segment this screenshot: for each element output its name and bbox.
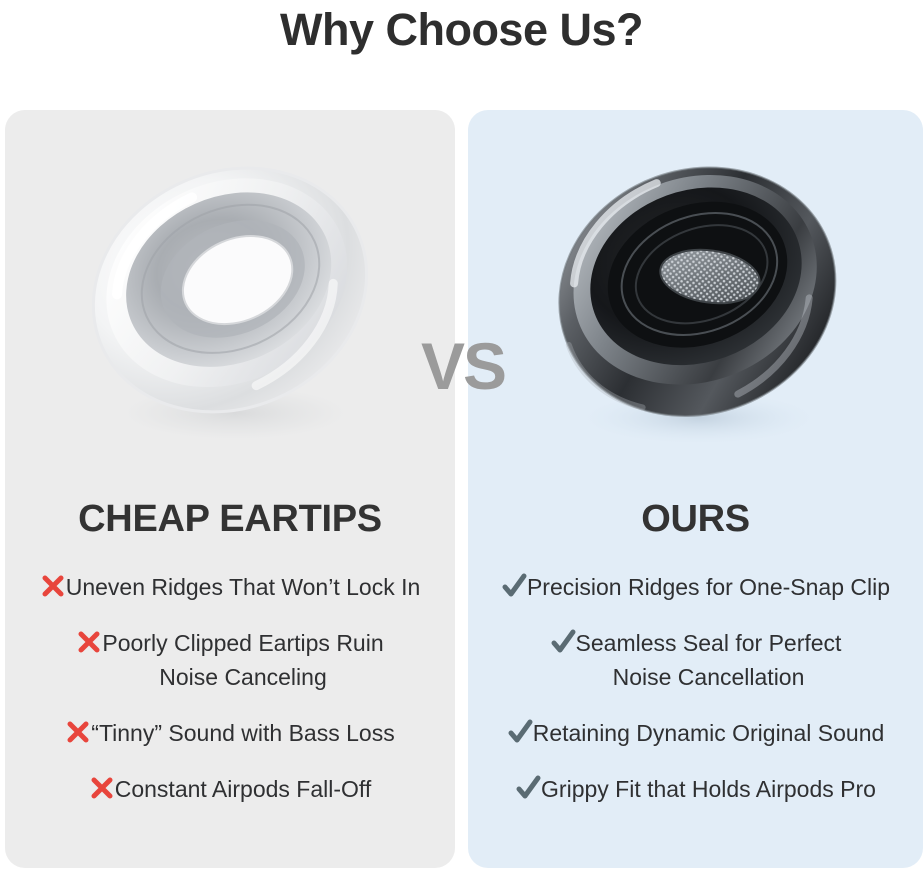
list-item: Precision Ridges for One-Snap Clip bbox=[478, 570, 913, 604]
page-title: Why Choose Us? bbox=[0, 2, 923, 58]
list-item-label: Poorly Clipped Eartips Ruin Noise Cancel… bbox=[102, 626, 383, 694]
cheap-eartip-image bbox=[5, 130, 455, 470]
list-item: Poorly Clipped Eartips Ruin Noise Cancel… bbox=[15, 626, 445, 694]
cross-icon bbox=[89, 775, 115, 803]
vs-badge: VS bbox=[398, 330, 528, 402]
list-item-label: Precision Ridges for One-Snap Clip bbox=[527, 570, 890, 604]
check-icon bbox=[501, 573, 527, 601]
ours-heading: OURS bbox=[468, 495, 923, 543]
list-item-label: “Tinny” Sound with Bass Loss bbox=[91, 716, 394, 750]
list-item-label: Constant Airpods Fall-Off bbox=[115, 772, 372, 806]
list-item-label: Seamless Seal for Perfect Noise Cancella… bbox=[576, 626, 842, 694]
list-item: Retaining Dynamic Original Sound bbox=[478, 716, 913, 750]
cheap-eartips-list: Uneven Ridges That Won’t Lock In Poorly … bbox=[5, 570, 455, 828]
list-item: “Tinny” Sound with Bass Loss bbox=[15, 716, 445, 750]
check-icon bbox=[515, 775, 541, 803]
list-item-label: Uneven Ridges That Won’t Lock In bbox=[66, 570, 421, 604]
our-eartip-image bbox=[468, 130, 923, 470]
list-item-label: Grippy Fit that Holds Airpods Pro bbox=[541, 772, 876, 806]
list-item: Grippy Fit that Holds Airpods Pro bbox=[478, 772, 913, 806]
cheap-eartip-illustration bbox=[65, 130, 395, 460]
list-item: Constant Airpods Fall-Off bbox=[15, 772, 445, 806]
list-item: Seamless Seal for Perfect Noise Cancella… bbox=[478, 626, 913, 694]
cross-icon bbox=[65, 719, 91, 747]
cross-icon bbox=[40, 573, 66, 601]
cross-icon bbox=[76, 629, 102, 657]
ours-list: Precision Ridges for One-Snap Clip Seaml… bbox=[468, 570, 923, 828]
check-icon bbox=[507, 719, 533, 747]
check-icon bbox=[550, 629, 576, 657]
list-item-label: Retaining Dynamic Original Sound bbox=[533, 716, 885, 750]
list-item: Uneven Ridges That Won’t Lock In bbox=[15, 570, 445, 604]
our-eartip-illustration bbox=[531, 130, 861, 460]
cheap-eartips-heading: CHEAP EARTIPS bbox=[5, 495, 455, 543]
